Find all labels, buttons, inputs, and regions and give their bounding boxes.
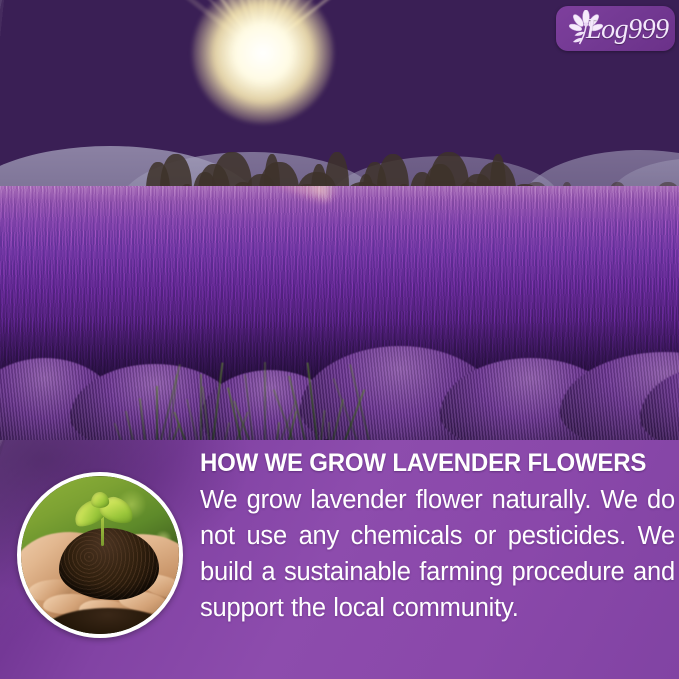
grass-stem: [328, 422, 330, 440]
grass-stem: [264, 362, 266, 440]
brand-logo-badge[interactable]: Log999: [556, 6, 675, 51]
grass-stem: [200, 374, 202, 440]
brand-logo-text: Log999: [586, 15, 669, 45]
product-infographic-card: Log999 HOW WE GROW LAVENDER FLOWERS We g…: [0, 0, 679, 679]
panel-headline: HOW WE GROW LAVENDER FLOWERS: [200, 448, 656, 478]
info-text-block: HOW WE GROW LAVENDER FLOWERS We grow lav…: [200, 448, 675, 626]
sprout-stem: [101, 516, 104, 546]
hands-holding-sprout-photo: [17, 472, 183, 638]
foreground-lavender: [0, 320, 679, 440]
grass-stem: [156, 386, 158, 440]
hero-lavender-field-image: [0, 0, 679, 440]
brand-logo-inner: Log999: [556, 6, 675, 51]
panel-body-text: We grow lavender flower naturally. We do…: [200, 482, 675, 626]
lavender-field: [0, 186, 679, 440]
